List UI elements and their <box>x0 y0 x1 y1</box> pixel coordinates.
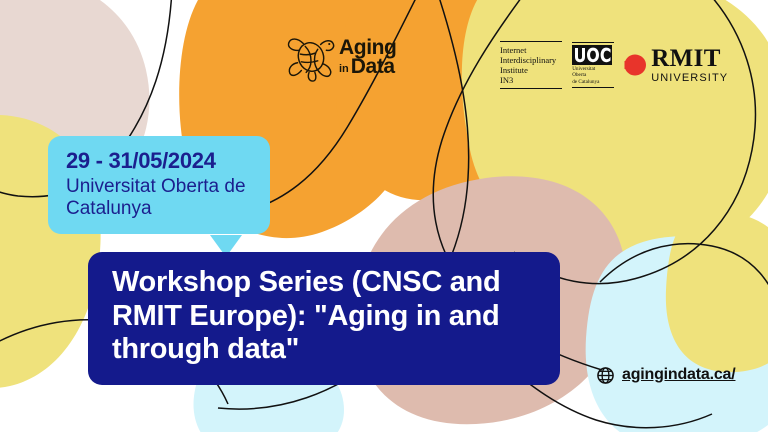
rmit-wordmark: RMIT UNIVERSITY <box>651 46 728 84</box>
website-link[interactable]: agingindata.ca/ <box>597 366 735 384</box>
uoc-subtitle: Universitat Oberta de Catalunya <box>572 66 599 85</box>
in3-line-1: Internet <box>500 45 556 55</box>
rmit-title: RMIT <box>651 46 728 71</box>
event-venue: Universitat Oberta de Catalunya <box>66 176 254 219</box>
in3-line-3: Institute <box>500 65 556 75</box>
aging-in-data-logo: Aging in Data <box>286 26 396 88</box>
globe-icon <box>597 367 614 384</box>
partner-logo-strip: Internet Interdisciplinary Institute IN3… <box>500 36 728 94</box>
turtle-icon <box>286 31 336 83</box>
in3-line-2: Interdisciplinary <box>500 55 556 65</box>
rmit-logo: RMIT UNIVERSITY <box>624 46 728 84</box>
event-title: Workshop Series (CNSC and RMIT Europe): … <box>112 266 538 367</box>
event-date: 29 - 31/05/2024 <box>66 149 254 173</box>
in3-line-4: IN3 <box>500 75 556 85</box>
rmit-red-dot-icon <box>624 54 646 76</box>
website-url-text: agingindata.ca/ <box>622 366 735 384</box>
uoc-logo: Universitat Oberta de Catalunya <box>572 42 614 88</box>
blob-yellow-corner <box>666 212 768 372</box>
date-venue-bubble: 29 - 31/05/2024 Universitat Oberta de Ca… <box>48 136 270 234</box>
uoc-sub-line-3: de Catalunya <box>572 79 599 85</box>
aging-in-data-wordmark: Aging in Data <box>339 38 396 77</box>
logo-word-in: in <box>339 64 349 76</box>
poster-canvas: Aging in Data Internet Interdisciplinary… <box>0 0 768 432</box>
title-banner: Workshop Series (CNSC and RMIT Europe): … <box>88 252 560 385</box>
logo-word-data: Data <box>351 57 395 76</box>
rmit-subtitle: UNIVERSITY <box>651 73 728 84</box>
in3-logo: Internet Interdisciplinary Institute IN3 <box>500 41 562 89</box>
uoc-mark-icon <box>572 45 612 65</box>
